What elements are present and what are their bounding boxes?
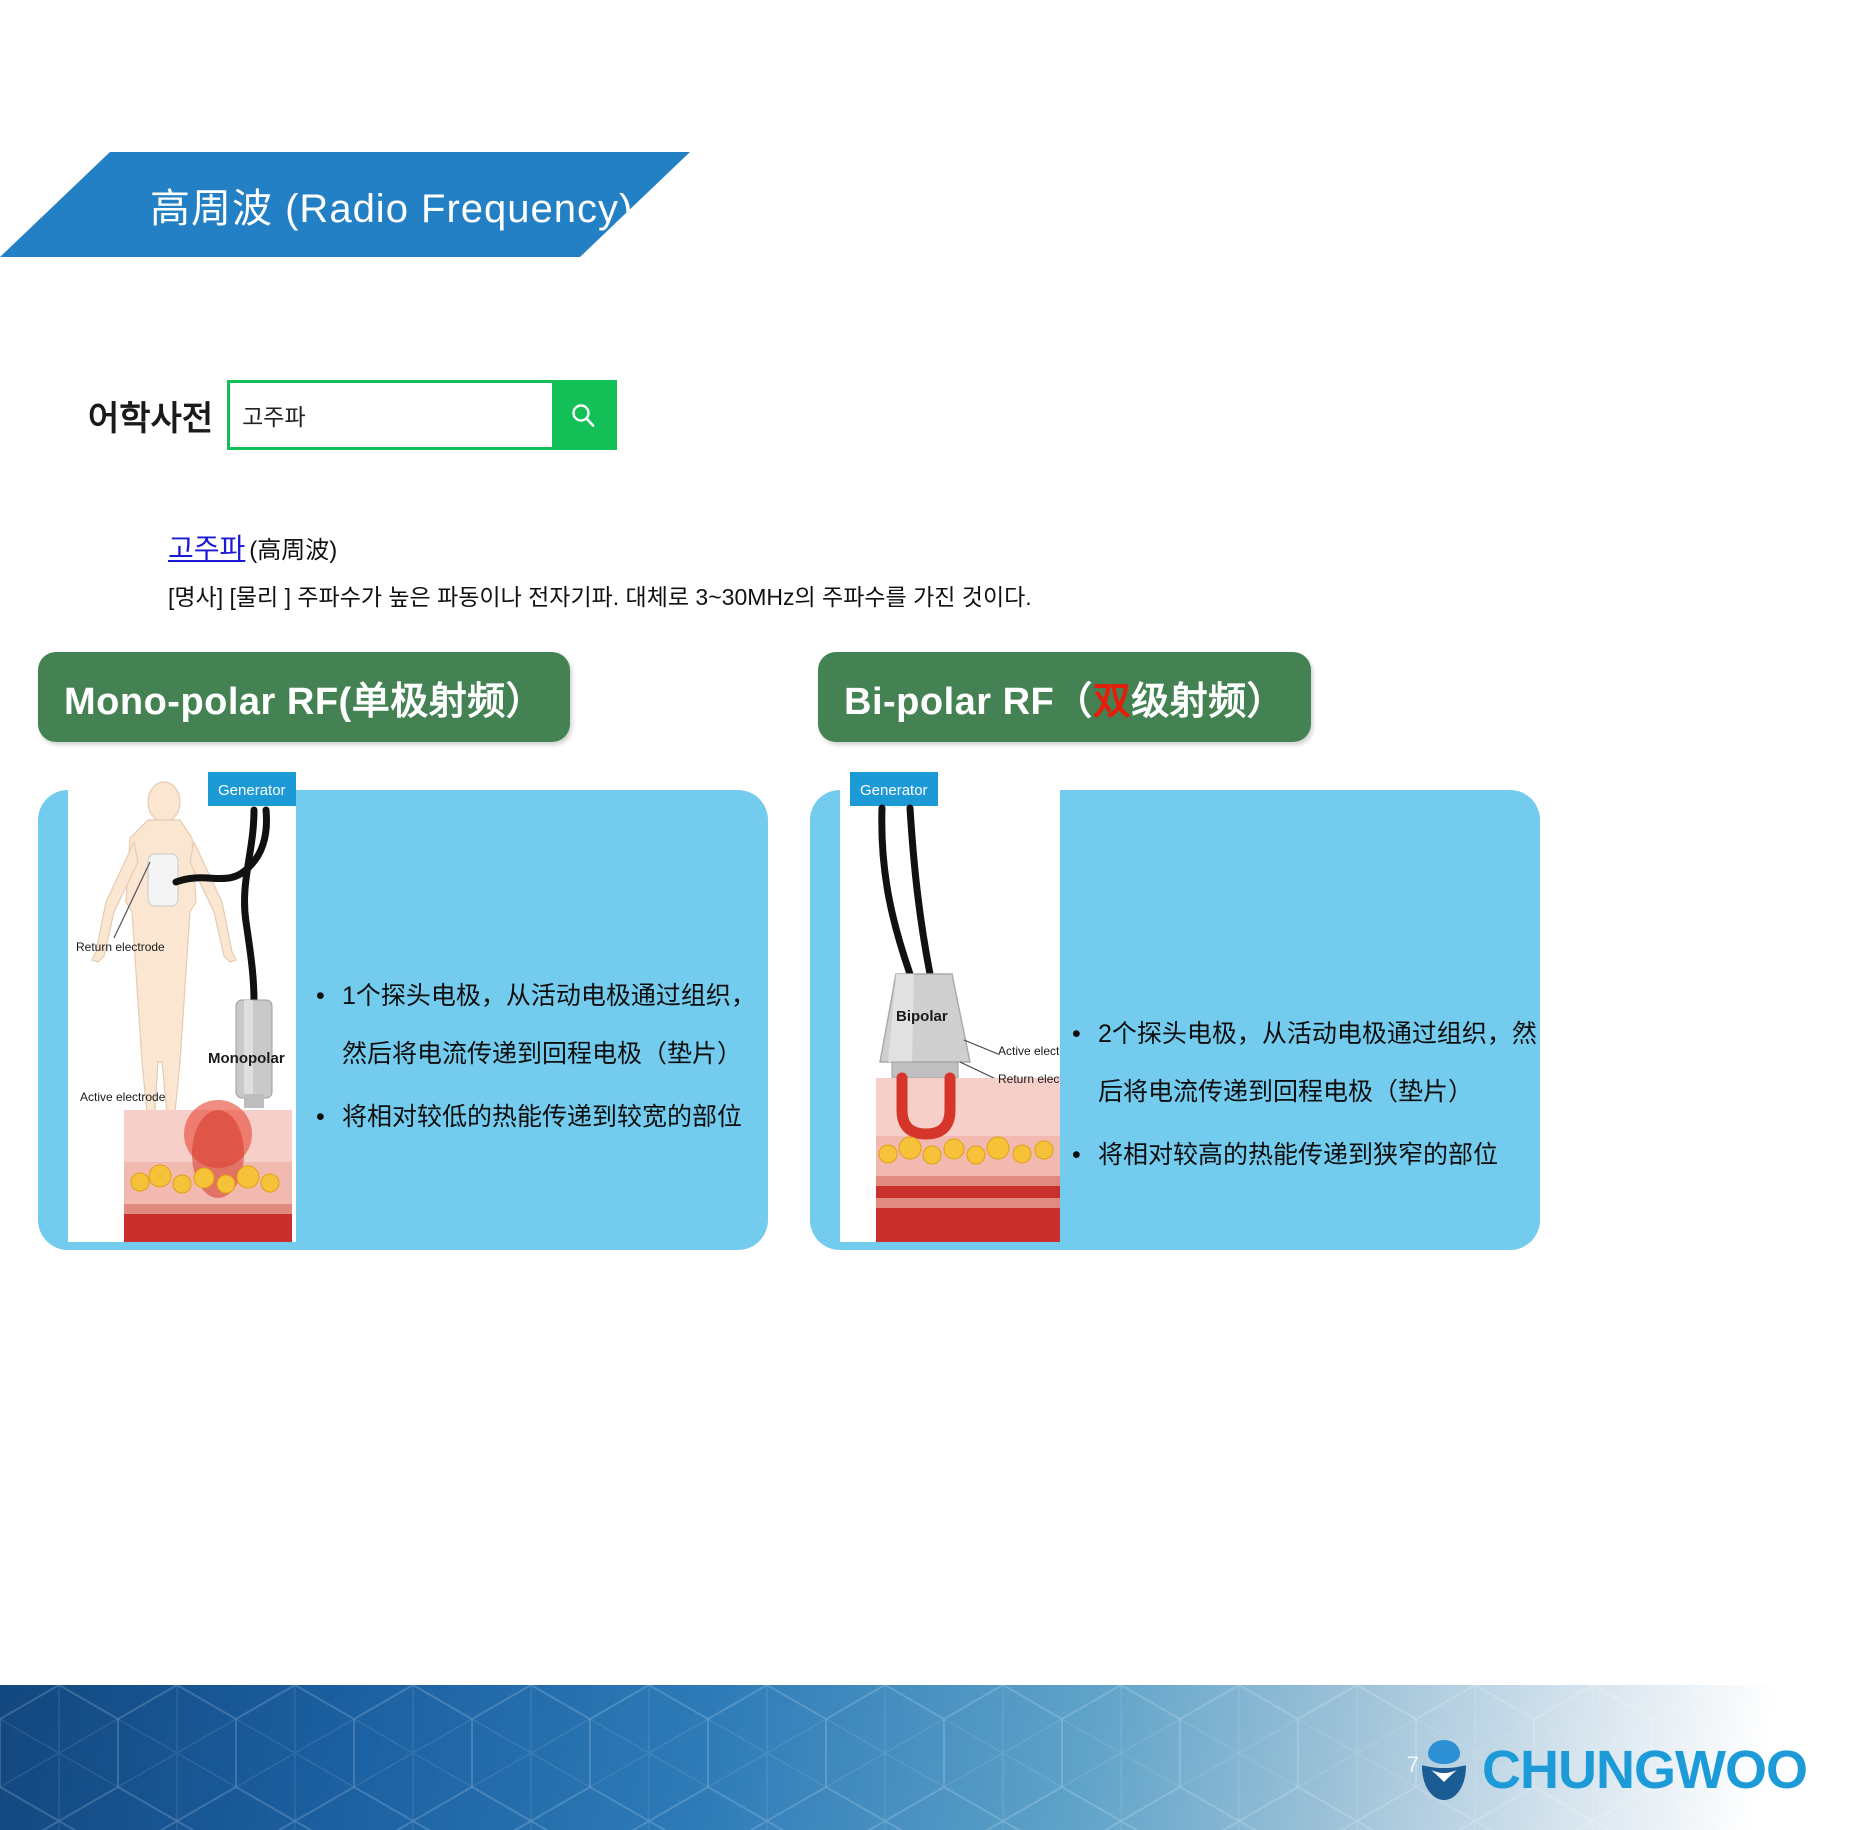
search-button[interactable] [552,383,614,447]
badge-bi-polar: Bi-polar RF（双级射频） [818,652,1311,742]
search-input[interactable] [230,383,552,447]
bullet-item: 1个探头电极，从活动电极通过组织，然后将电流传递到回程电极（垫片） [312,968,762,1083]
page-title: 高周波 (Radio Frequency) [150,176,633,234]
return-electrode-label: Return electrode [998,1072,1060,1086]
bi-polar-illustration: Generator [840,762,1060,1242]
company-logo: CHUNGWOO [1418,1738,1807,1802]
chungwoo-logo-text: CHUNGWOO [1482,1743,1807,1797]
badge-mono-polar-label: Mono-polar RF(单极射频） [64,670,544,725]
bullet-list-mono-polar: 1个探头电极，从活动电极通过组织，然后将电流传递到回程电极（垫片） 将相对较低的… [312,968,762,1153]
mono-polar-illustration: Generator [68,762,296,1242]
dictionary-result: 고주파(高周波) [명사] [물리 ] 주파수가 높은 파동이나 전자기파. 대… [168,527,1268,613]
probe-label-bipolar: Bipolar [896,1008,948,1025]
badge-bi-polar-label: Bi-polar RF（双级射频） [844,670,1285,725]
slide-footer: 7 CHUNGWOO [0,1685,1867,1830]
dictionary-search-row: 어학사전 [88,380,617,450]
definition-hanja: (高周波) [249,537,337,564]
definition-headword-link[interactable]: 고주파 [168,533,245,564]
dictionary-label: 어학사전 [88,391,213,440]
bullet-item: 2个探头电极，从活动电极通过组织，然后将电流传递到回程电极（垫片） [1068,1006,1538,1121]
chungwoo-logo-mark [1418,1738,1470,1802]
svg-text:Generator: Generator [218,782,286,799]
figure-bi-polar: Generator Bipolar Active electrode Retur… [840,762,1060,1242]
figure-mono-polar: Generator Return electrode Active electr… [68,762,296,1242]
bullet-item: 将相对较高的热能传递到狭窄的部位 [1068,1127,1538,1185]
bullet-list-bi-polar: 2个探头电极，从活动电极通过组织，然后将电流传递到回程电极（垫片） 将相对较高的… [1068,1006,1538,1191]
badge-mono-polar: Mono-polar RF(单极射频） [38,652,570,742]
slide-title-banner: 高周波 (Radio Frequency) [0,152,690,257]
search-icon [570,402,596,428]
return-electrode-label: Return electrode [76,940,165,954]
svg-text:Generator: Generator [860,782,928,799]
definition-text: [명사] [물리 ] 주파수가 높은 파동이나 전자기파. 대체로 3~30MH… [168,583,1268,613]
bullet-item: 将相对较低的热能传递到较宽的部位 [312,1089,762,1147]
active-electrode-label: Active electrode [80,1090,165,1104]
active-electrode-label: Active electrode [998,1044,1060,1058]
probe-label-monopolar: Monopolar [208,1050,285,1067]
search-box[interactable] [227,380,617,450]
